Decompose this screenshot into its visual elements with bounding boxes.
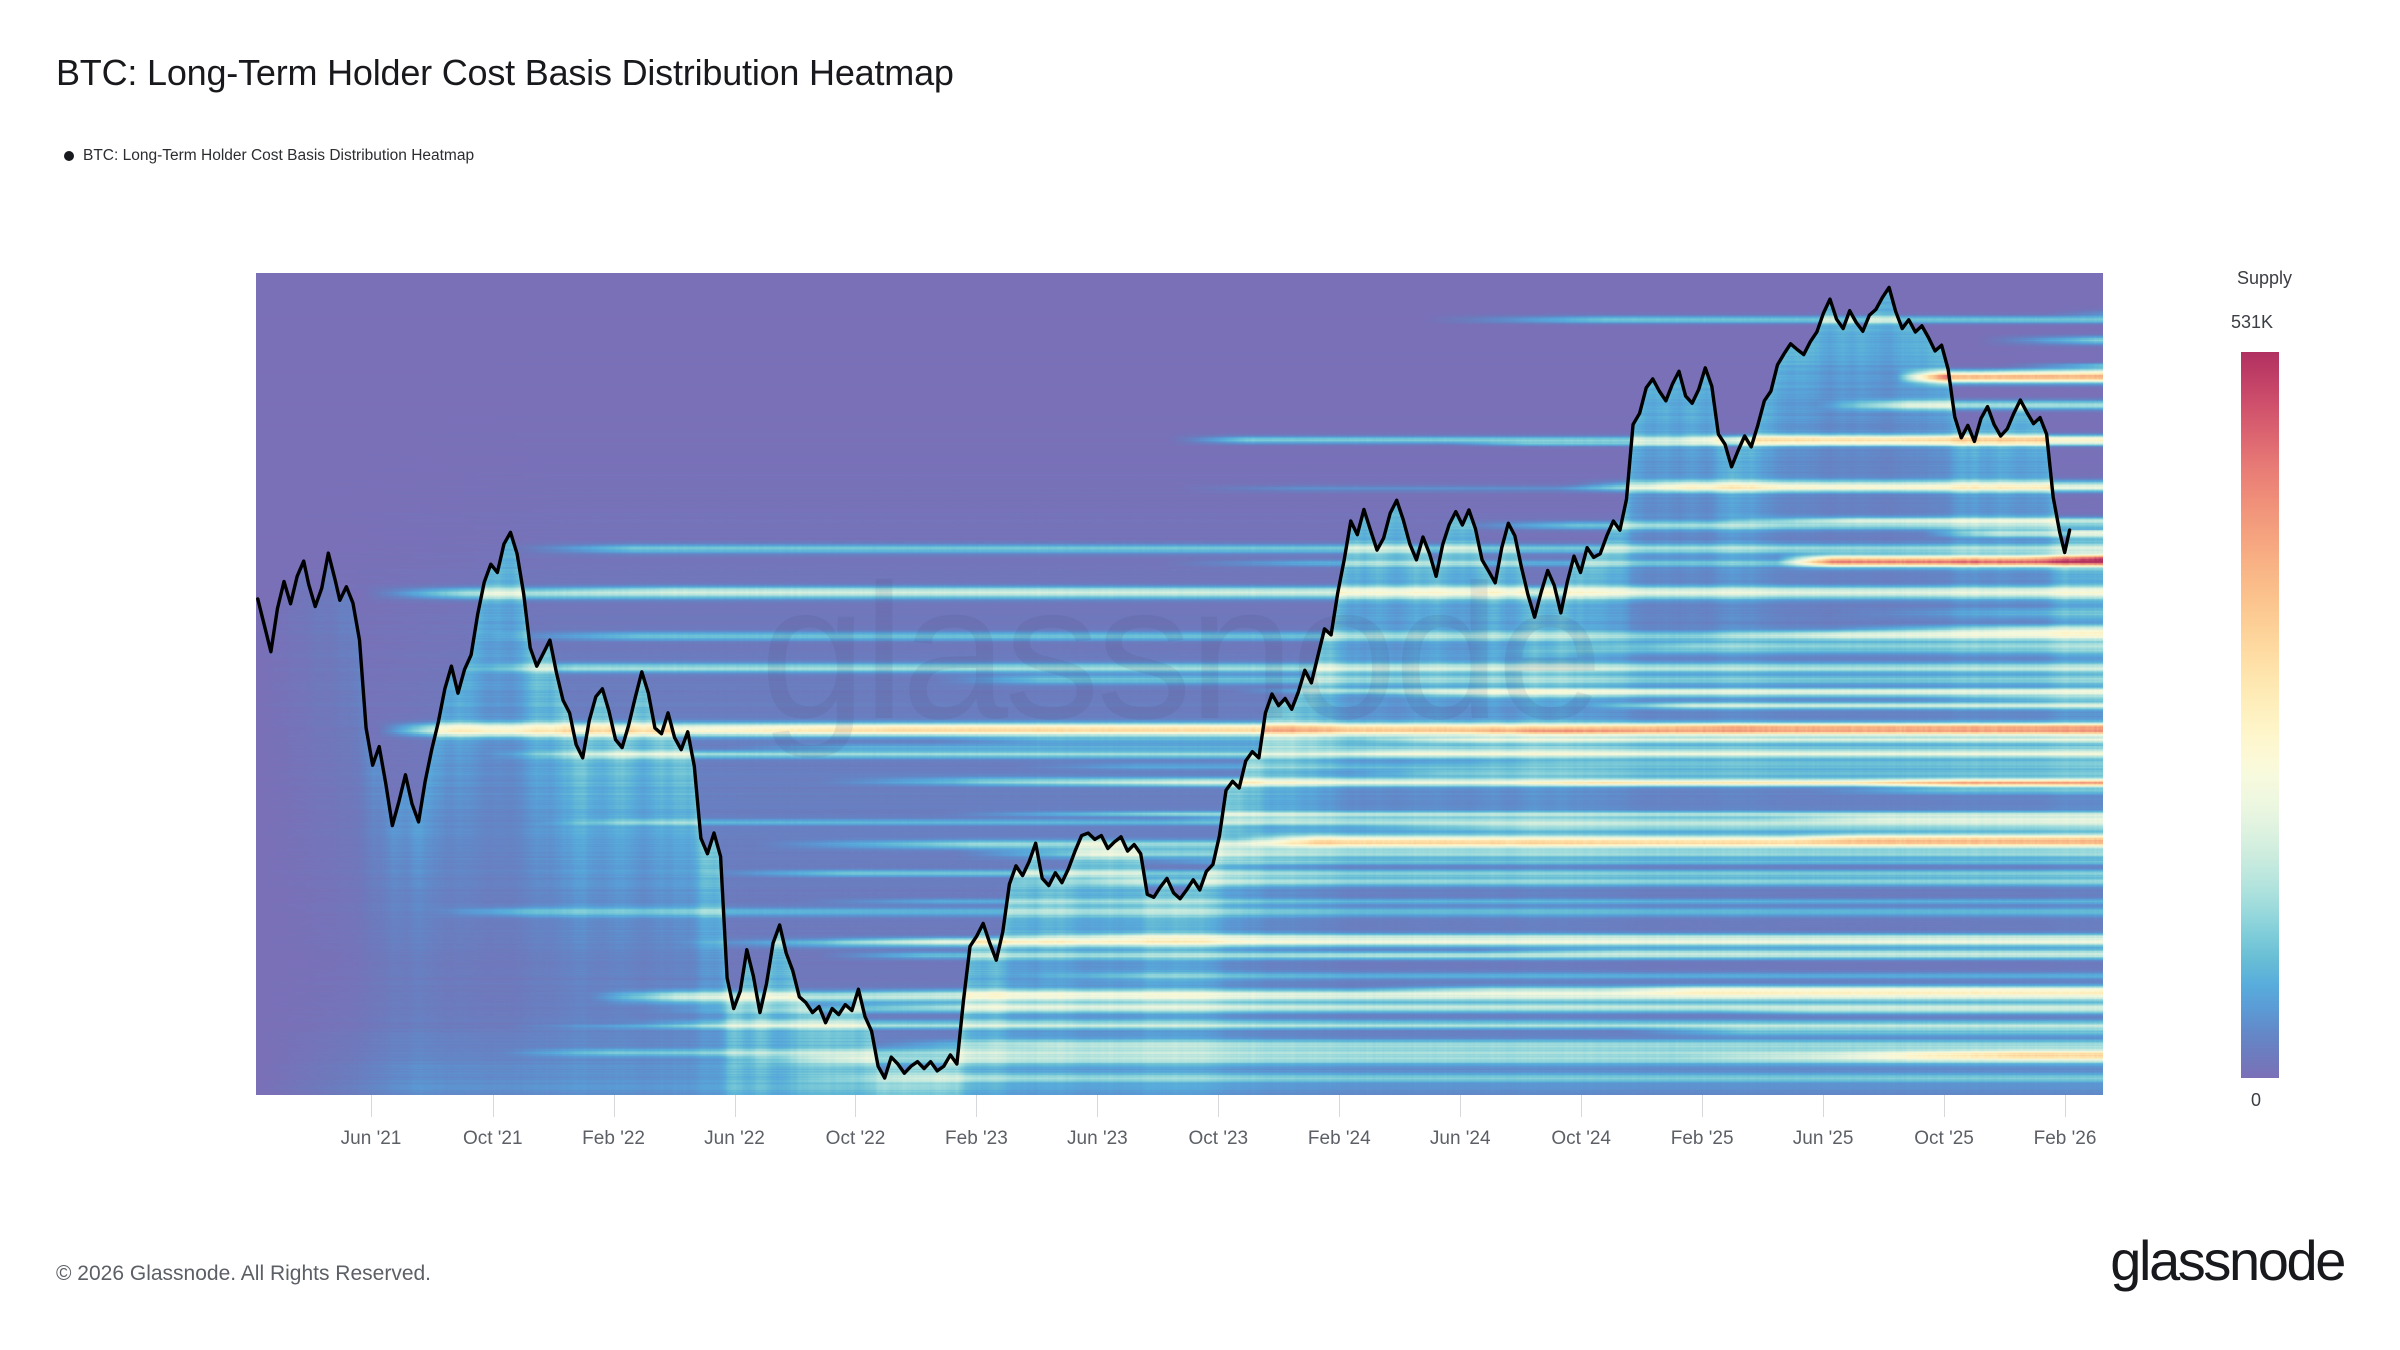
x-axis-tick-label: Oct '22 [826,1128,886,1150]
x-axis-tick-mark [371,1095,372,1117]
x-axis-tick-mark [614,1095,615,1117]
x-axis-tick-label: Feb '22 [582,1128,645,1150]
x-axis-tick-label: Oct '24 [1551,1128,1611,1150]
x-axis-tick-mark [855,1095,856,1117]
x-axis-tick-label: Oct '23 [1189,1128,1249,1150]
x-axis-tick-mark [1944,1095,1945,1117]
x-axis-tick-mark [1702,1095,1703,1117]
colorbar-max-label: 531K [2231,312,2273,333]
x-axis-tick-mark [1339,1095,1340,1117]
x-axis-tick-mark [1581,1095,1582,1117]
x-axis-tick-label: Feb '25 [1671,1128,1734,1150]
x-axis-tick-mark [2065,1095,2066,1117]
x-axis-tick-label: Oct '25 [1914,1128,1974,1150]
x-axis-tick-mark [1218,1095,1219,1117]
x-axis-tick-mark [735,1095,736,1117]
x-axis-tick-label: Jun '22 [704,1128,765,1150]
x-axis-tick-label: Jun '24 [1430,1128,1491,1150]
x-axis-tick-label: Feb '24 [1308,1128,1371,1150]
x-axis-tick-label: Oct '21 [463,1128,523,1150]
colorbar-min-label: 0 [2251,1090,2261,1111]
colorbar-title: Supply [2237,268,2292,289]
x-axis-tick-label: Feb '23 [945,1128,1008,1150]
x-axis-tick-mark [1460,1095,1461,1117]
x-axis-tick-mark [1097,1095,1098,1117]
x-axis-tick-label: Jun '23 [1067,1128,1128,1150]
x-axis-tick-label: Feb '26 [2034,1128,2097,1150]
colorbar-gradient-strip [2241,352,2279,1078]
x-axis-tick-mark [493,1095,494,1117]
x-axis-tick-mark [1823,1095,1824,1117]
x-axis-tick-label: Jun '21 [341,1128,402,1150]
footer-copyright: © 2026 Glassnode. All Rights Reserved. [56,1262,431,1286]
x-axis-tick-mark [976,1095,977,1117]
x-axis-tick-label: Jun '25 [1793,1128,1854,1150]
colorbar-legend[interactable]: Supply 531K 0 [2213,272,2373,1152]
brand-logo: glassnode [2110,1228,2344,1293]
x-axis: Jun '21Oct '21Feb '22Jun '22Oct '22Feb '… [0,0,2400,1350]
chart-page: BTC: Long-Term Holder Cost Basis Distrib… [0,0,2400,1350]
